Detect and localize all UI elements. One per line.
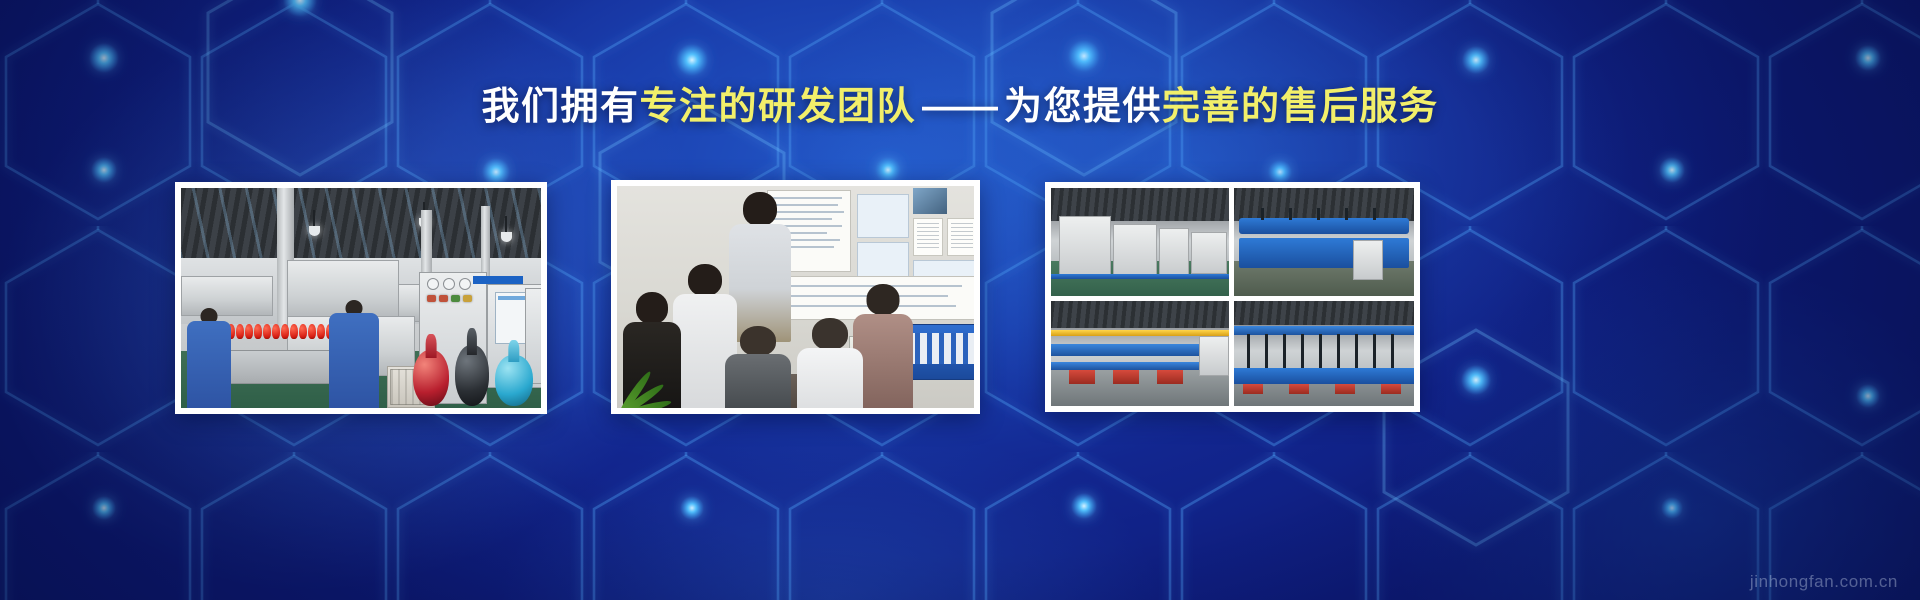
- person-seated-right-man: [797, 318, 863, 408]
- person-standing: [729, 192, 791, 342]
- product-vases-inset: [411, 318, 537, 406]
- banner-headline: 我们拥有专注的研发团队——为您提供完善的售后服务: [0, 82, 1920, 132]
- headline-segment-2: 专注的研发团队: [639, 86, 916, 128]
- photo-equipment-collage: [1051, 188, 1414, 406]
- promo-banner: 我们拥有专注的研发团队——为您提供完善的售后服务: [0, 0, 1920, 600]
- photo-factory-line: [181, 188, 541, 408]
- person-seated-front: [725, 326, 791, 408]
- headline-segment-3: 为您提供: [1004, 86, 1162, 128]
- site-watermark: jinhongfan.com.cn: [1750, 572, 1898, 592]
- photo-team-meeting: [617, 186, 974, 408]
- headline-segment-4: 完善的售后服务: [1162, 86, 1439, 128]
- headline-segment-1: 我们拥有: [481, 86, 639, 128]
- photo-gallery: [0, 182, 1920, 414]
- photo-frame-team-meeting[interactable]: [611, 180, 980, 414]
- photo-frame-factory-line[interactable]: [175, 182, 547, 414]
- foreground-plant: [619, 336, 689, 408]
- headline-dash: ——: [916, 86, 1004, 128]
- photo-frame-equipment-collage[interactable]: [1045, 182, 1420, 412]
